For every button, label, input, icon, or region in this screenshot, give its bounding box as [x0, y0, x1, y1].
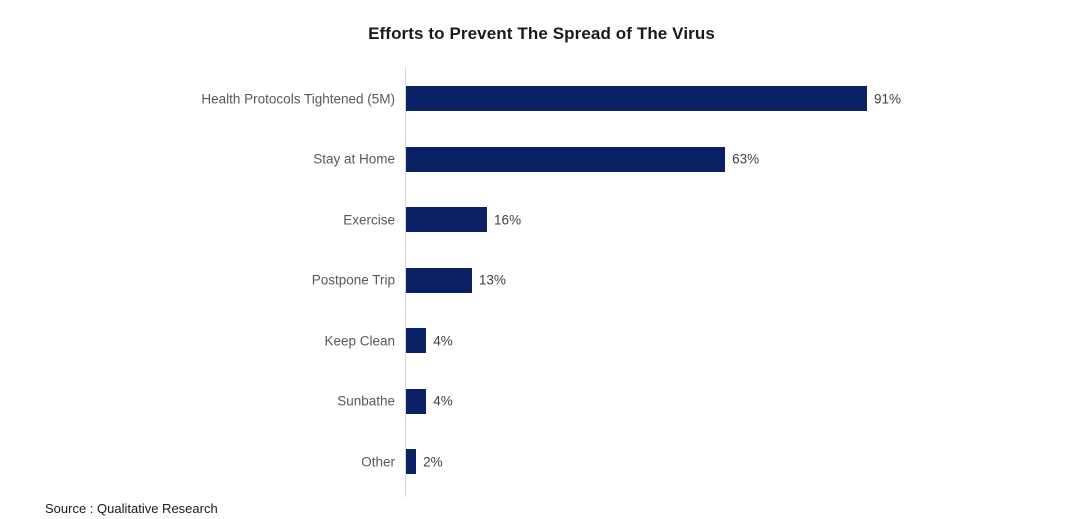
category-label: Exercise [343, 213, 395, 227]
bar-row: Other2% [0, 449, 1083, 474]
bar-row: Stay at Home63% [0, 147, 1083, 172]
bar-value-label: 16% [494, 213, 521, 227]
plot-area: Health Protocols Tightened (5M)91%Stay a… [0, 60, 1083, 500]
bar-value-label: 13% [479, 273, 506, 287]
bar [406, 389, 426, 414]
chart-title: Efforts to Prevent The Spread of The Vir… [0, 24, 1083, 44]
category-label: Sunbathe [337, 394, 395, 408]
bar-value-label: 4% [433, 334, 453, 348]
bar-row: Health Protocols Tightened (5M)91% [0, 86, 1083, 111]
bar-value-label: 2% [423, 455, 443, 469]
bar [406, 328, 426, 353]
category-label: Health Protocols Tightened (5M) [201, 92, 395, 106]
bar [406, 449, 416, 474]
bar-value-label: 91% [874, 92, 901, 106]
bar [406, 147, 725, 172]
bar-value-label: 63% [732, 152, 759, 166]
bar-row: Exercise16% [0, 207, 1083, 232]
category-label: Keep Clean [324, 334, 395, 348]
bar-row: Keep Clean4% [0, 328, 1083, 353]
bar-row: Sunbathe4% [0, 389, 1083, 414]
source-note: Source : Qualitative Research [45, 501, 218, 516]
bar-row: Postpone Trip13% [0, 268, 1083, 293]
bar [406, 207, 487, 232]
bar-value-label: 4% [433, 394, 453, 408]
bar [406, 268, 472, 293]
bar [406, 86, 867, 111]
category-label: Stay at Home [313, 152, 395, 166]
category-label: Postpone Trip [312, 273, 395, 287]
bar-chart: Efforts to Prevent The Spread of The Vir… [0, 0, 1083, 519]
category-label: Other [361, 455, 395, 469]
